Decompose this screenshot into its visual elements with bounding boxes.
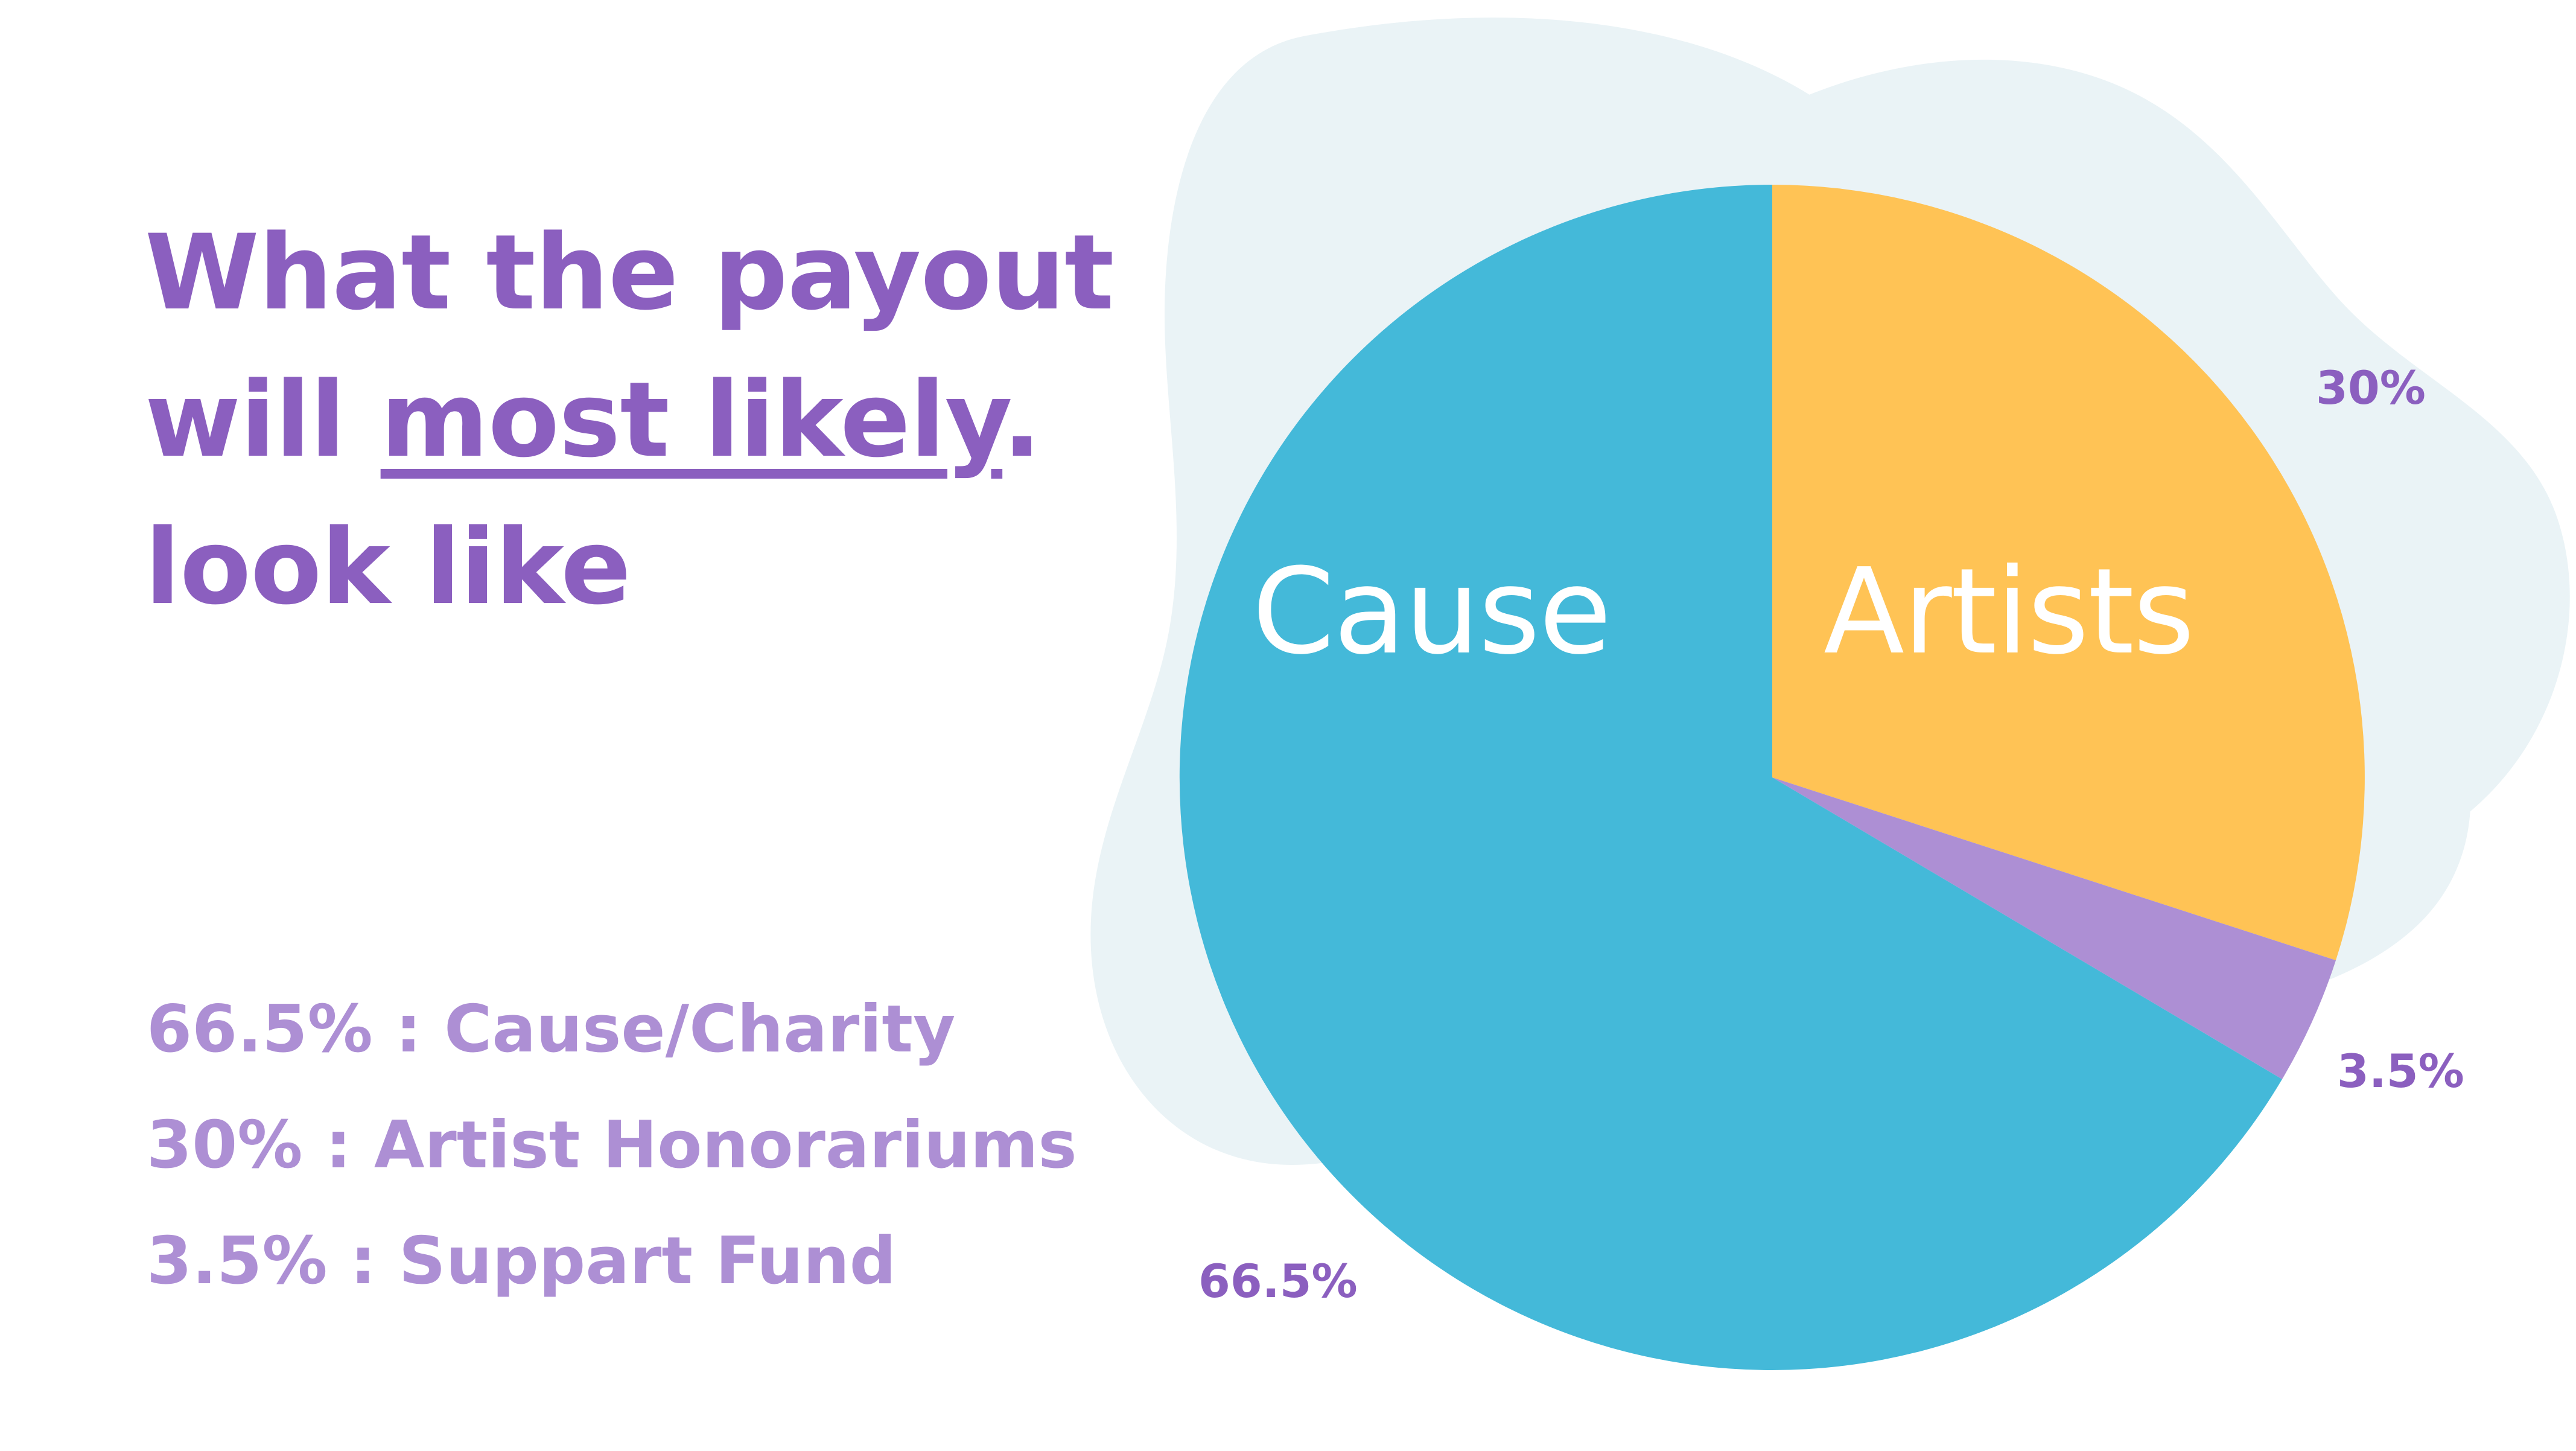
pie-slice-label-cause: Cause — [1252, 543, 1611, 681]
pie-callout-artists-percent: 30% — [2316, 361, 2426, 415]
pie-callout-cause-percent: 66.5% — [1198, 1254, 1358, 1308]
pie-slice-label-artists: Artists — [1824, 543, 2193, 681]
pie-chart-svg — [0, 0, 2576, 1449]
pie-callout-support-percent: 3.5% — [2337, 1044, 2464, 1098]
pie-chart: Cause Artists 30% 3.5% 66.5% — [0, 0, 2576, 1449]
slide-canvas: What the payout will most likely. look l… — [0, 0, 2576, 1449]
